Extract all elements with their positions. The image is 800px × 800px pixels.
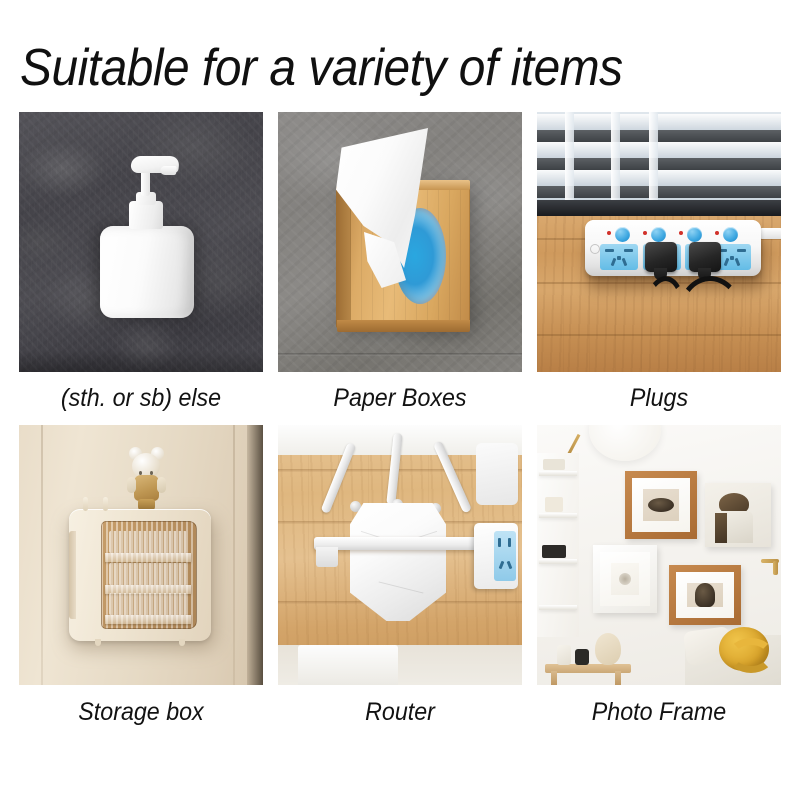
wall-storage-box xyxy=(69,509,211,641)
window-blinds xyxy=(537,112,781,204)
blind-cord xyxy=(611,112,620,204)
bear-arm xyxy=(127,477,136,493)
caption-cell-4: Storage box xyxy=(28,685,255,740)
table-leg xyxy=(615,671,621,685)
box-shelf xyxy=(105,553,191,562)
shelf-object xyxy=(545,497,563,512)
power-strip-cord xyxy=(759,228,781,239)
dispenser-spout xyxy=(160,166,177,175)
blind-cord xyxy=(649,112,658,204)
small-dark-jar xyxy=(575,649,589,665)
power-switch[interactable] xyxy=(723,227,738,242)
soap-dispenser xyxy=(93,154,193,354)
box-foot xyxy=(179,639,185,646)
gallery-cell-plugs[interactable]: Plugs xyxy=(537,112,781,425)
wall-shelving-unit xyxy=(537,453,579,637)
caption-cell-1: (sth. or sb) else xyxy=(28,372,255,425)
photo-storage-box[interactable] xyxy=(19,425,263,685)
picture-frame-wood-bottom[interactable] xyxy=(669,565,741,625)
photo-soap-dispenser[interactable] xyxy=(19,112,263,372)
tissue-box-bottom-rim xyxy=(337,320,470,332)
item-gallery-grid: (sth. or sb) else Paper Boxes xyxy=(19,112,781,740)
brush-cup xyxy=(557,645,571,665)
shelf-bracket xyxy=(316,547,338,567)
wall-right-shadow xyxy=(247,425,263,685)
gallery-cell-photo-frame[interactable]: Photo Frame xyxy=(537,425,781,740)
wifi-router xyxy=(350,503,446,621)
picture-frame-white[interactable] xyxy=(593,545,657,613)
box-shelf xyxy=(105,615,191,624)
caption-cell-5: Router xyxy=(287,685,514,740)
indicator-led xyxy=(679,231,683,235)
box-side-edge xyxy=(69,531,76,619)
black-plug xyxy=(689,242,721,272)
photo-paper-box[interactable] xyxy=(278,112,522,372)
indicator-led xyxy=(715,231,719,235)
dispenser-bottle xyxy=(100,226,194,318)
photo-router[interactable] xyxy=(278,425,522,685)
box-contents xyxy=(109,531,187,553)
power-switch[interactable] xyxy=(651,227,666,242)
portrait-canvas[interactable] xyxy=(705,483,771,547)
shelf-books xyxy=(543,459,565,470)
blind-cord xyxy=(565,112,574,204)
table-leg xyxy=(551,671,557,685)
brass-sconce-stem xyxy=(773,561,778,575)
box-top-knob xyxy=(83,497,88,511)
indicator-led xyxy=(643,231,647,235)
power-switch[interactable] xyxy=(615,227,630,242)
picture-frame-wood-top[interactable] xyxy=(625,471,697,539)
wall-outlet[interactable] xyxy=(474,523,518,589)
power-switch[interactable] xyxy=(687,227,702,242)
bear-figurine xyxy=(125,445,169,515)
gallery-cell-router[interactable]: Router xyxy=(278,425,522,740)
gallery-cell-sth-or-sb-else[interactable]: (sth. or sb) else xyxy=(19,112,263,425)
bear-arm xyxy=(157,477,166,493)
box-top-knob xyxy=(103,497,108,511)
dispenser-collar xyxy=(129,201,163,229)
black-plug xyxy=(645,242,677,272)
dispenser-pump-head xyxy=(130,156,180,173)
mounting-hole xyxy=(590,244,600,254)
yellow-knot-pillow xyxy=(719,627,769,671)
photo-gallery-wall[interactable] xyxy=(537,425,781,685)
indicator-led xyxy=(607,231,611,235)
wall-seam-line xyxy=(278,353,522,356)
ceramic-vase xyxy=(595,633,621,665)
box-contents xyxy=(109,563,187,585)
socket-outlet[interactable] xyxy=(600,244,638,270)
page-title: Suitable for a variety of items xyxy=(20,38,728,98)
gallery-cell-storage-box[interactable]: Storage box xyxy=(19,425,263,740)
bear-body xyxy=(134,475,159,501)
gallery-cell-paper-boxes[interactable]: Paper Boxes xyxy=(278,112,522,425)
box-contents xyxy=(109,593,187,615)
router-wall-shelf xyxy=(314,537,492,550)
box-foot xyxy=(95,639,101,646)
wall-box-upper xyxy=(476,443,518,505)
photo-power-strip[interactable] xyxy=(537,112,781,372)
caption-cell-3: Plugs xyxy=(546,372,773,425)
caption-cell-6: Photo Frame xyxy=(546,685,773,740)
outlet-socket-face[interactable] xyxy=(494,531,516,581)
shelf-books-dark xyxy=(542,545,566,558)
white-panel-bottom xyxy=(298,645,398,685)
caption-cell-2: Paper Boxes xyxy=(287,372,514,425)
window-frame xyxy=(537,200,781,216)
